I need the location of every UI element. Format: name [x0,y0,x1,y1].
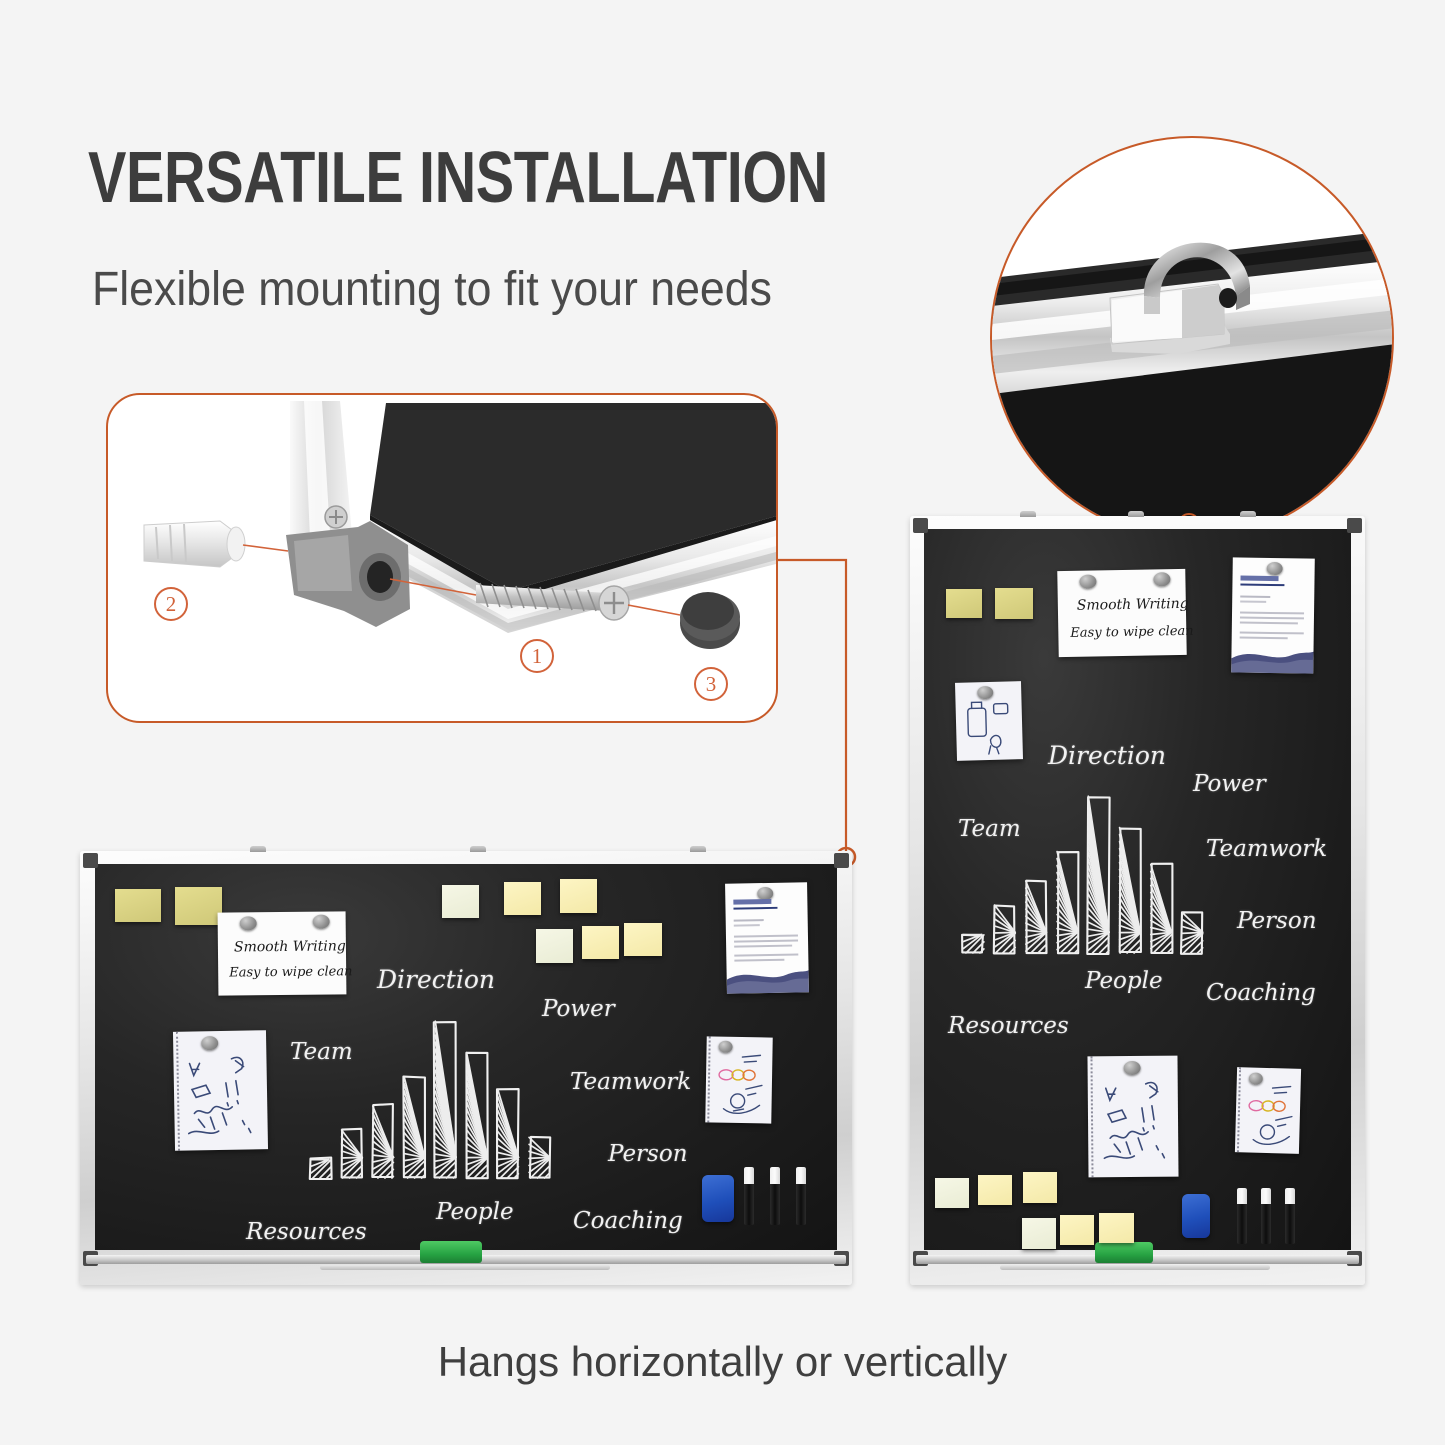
marker [1261,1188,1271,1244]
chalk-word: Direction [377,965,495,994]
magnet [313,914,330,928]
sticky-note [1099,1213,1134,1243]
chalk-word: Direction [1048,741,1166,770]
footer-caption: Hangs horizontally or vertically [0,1338,1445,1386]
sticky-note [504,882,541,915]
part-badge-3: 3 [694,667,728,701]
chalk-word: Teamwork [570,1069,691,1095]
chalk-word: Coaching [1206,980,1316,1006]
corner-cap [83,853,98,868]
hanger-nub [1128,511,1144,517]
chalk-bar-chart [305,1006,555,1186]
chalk-word: People [1085,968,1163,994]
hanger-nub [250,846,266,852]
pen-tray-rod [320,1265,610,1270]
blue-magnetic-eraser [702,1175,734,1222]
magnet [1079,574,1096,588]
vertical-whiteboard: Smooth Writing Easy to wipe clean [910,516,1365,1285]
handwriting-note: Smooth Writing Easy to wipe clean [1057,569,1186,657]
marker [744,1167,754,1225]
hanger-nub [1240,511,1256,517]
page-title: VERSATILE INSTALLATION [88,142,828,214]
horizontal-whiteboard: Smooth Writing Easy to wipe clean [80,851,852,1285]
note-line-1: Smooth Writing [234,938,346,955]
pen-tray-rod [1000,1265,1270,1270]
doodle-notepad [173,1030,268,1151]
note-line-2: Easy to wipe clean [1070,624,1194,641]
corner-cap [1347,518,1362,533]
sticky-note [115,889,161,922]
marker-cap [1261,1188,1271,1204]
letterhead-document [725,882,809,993]
hanger-nub [1020,511,1036,517]
green-tray-eraser [1095,1242,1153,1263]
sticky-note [536,929,573,963]
sticky-note [946,589,982,618]
hardware-illustration [108,395,778,723]
sticky-note [442,885,479,918]
sticky-note [935,1178,969,1208]
page-subtitle: Flexible mounting to fit your needs [92,262,772,317]
sticky-note [978,1175,1012,1205]
wall-anchor-shape [144,521,245,567]
doodle-sketch [183,1048,265,1145]
corner-cap [913,518,928,533]
mini-notepad [1235,1067,1301,1154]
green-tray-eraser [420,1241,482,1263]
chalk-word: Resources [246,1219,367,1245]
letterhead-wave [1231,640,1313,673]
chalk-word: Coaching [573,1208,683,1234]
chalk-word: Person [1237,908,1317,934]
chalk-word: People [436,1199,514,1225]
sticky-note [1060,1215,1094,1245]
magnet [1153,572,1170,586]
cover-cap-shape [680,592,740,649]
marker-cap [1237,1188,1247,1204]
note-line-2: Easy to wipe clean [229,964,352,980]
sticky-note [1023,1172,1057,1203]
marker [1285,1188,1295,1244]
sticky-note [1022,1218,1056,1249]
letterhead-document [1231,557,1315,673]
marker-cap [744,1167,754,1184]
chalk-word: Person [608,1141,688,1167]
part-badge-2: 2 [154,587,188,621]
mini-notepad [705,1036,772,1123]
sticky-note [624,923,662,956]
bar-chart-svg [958,781,1208,961]
handwriting-note: Smooth Writing Easy to wipe clean [218,911,347,995]
hanger-nub [470,846,486,852]
marker-cap [770,1167,780,1184]
magnet [240,916,257,930]
marker [796,1167,806,1225]
marker [770,1167,780,1225]
marker [1237,1188,1247,1244]
marker-cap [796,1167,806,1184]
doodle-sketch [963,697,1018,756]
sticky-note [582,926,619,959]
chalk-word: Teamwork [1206,836,1327,862]
sticky-note [175,887,222,925]
mounting-hardware-callout: 2 1 3 [106,393,778,723]
doodle-note [955,681,1023,761]
d-ring-hanger-detail [990,136,1394,540]
bar-chart-svg [305,1006,555,1186]
chalk-word: Resources [948,1013,1069,1039]
sticky-note [995,588,1033,619]
magnet [1267,562,1283,575]
chalk-bar-chart [958,781,1208,961]
doodle-sketch [1100,1074,1177,1173]
hanger-nub [690,846,706,852]
sticky-note [560,879,597,913]
note-line-1: Smooth Writing [1077,596,1189,614]
d-ring-illustration [992,138,1394,540]
letterhead-wave [726,960,809,993]
mini-doodle [713,1051,770,1120]
part-badge-1: 1 [520,639,554,673]
corner-cap [834,853,849,868]
doodle-notepad [1087,1056,1178,1178]
marker-cap [1285,1188,1295,1204]
blue-magnetic-eraser [1182,1194,1210,1238]
marketing-image-stage: VERSATILE INSTALLATION Flexible mounting… [0,0,1445,1445]
mini-doodle [1243,1081,1299,1148]
